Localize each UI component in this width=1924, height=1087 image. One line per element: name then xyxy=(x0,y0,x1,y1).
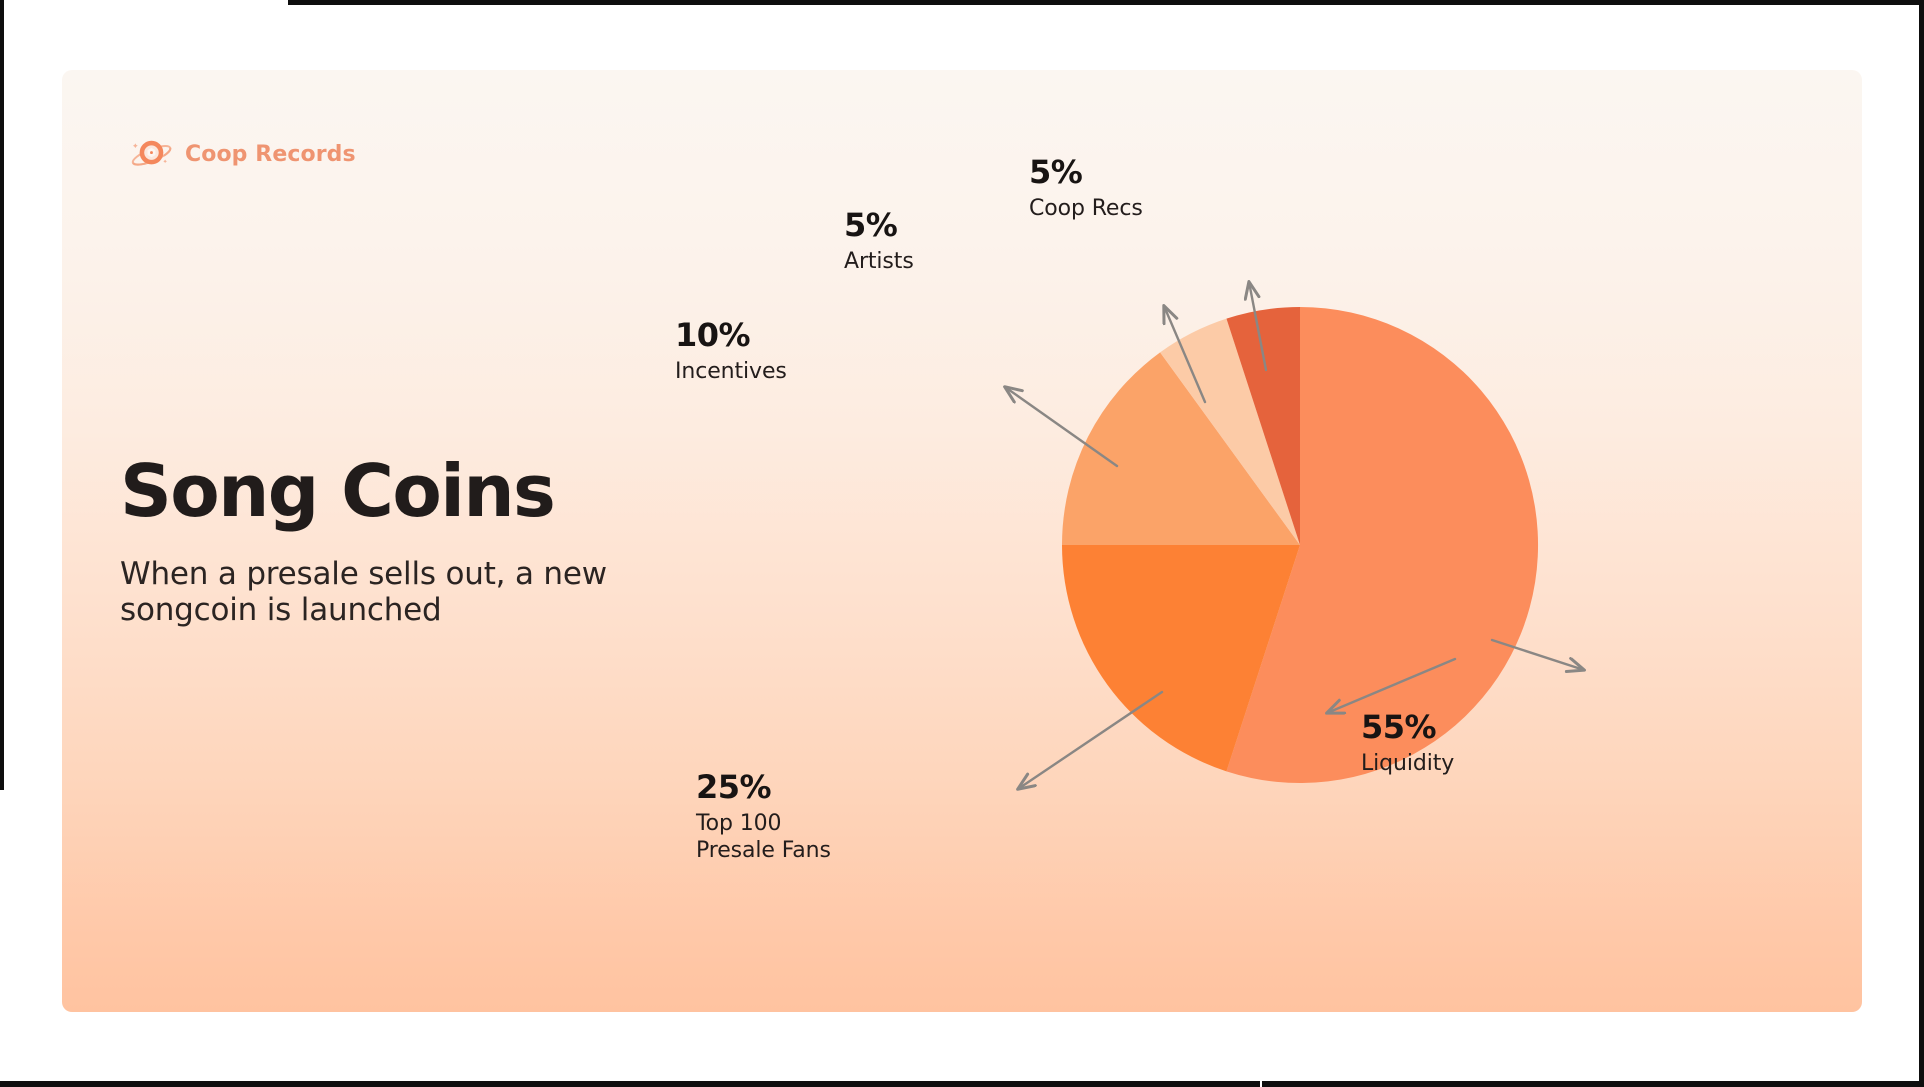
callout-label: Artists xyxy=(844,248,914,276)
callout-liquidity: 55% Liquidity xyxy=(1361,710,1454,777)
frame-edge-top xyxy=(288,0,1924,5)
leader-arrow-top-fans xyxy=(1018,692,1162,789)
callout-percent: 55% xyxy=(1361,710,1454,745)
callout-label: Incentives xyxy=(675,358,787,386)
callout-percent: 25% xyxy=(696,770,831,805)
callout-percent: 5% xyxy=(844,208,914,243)
pie-chart: 5% Coop Recs 5% Artists 10% Incentives 2… xyxy=(62,70,1862,1012)
frame-edge-bottom xyxy=(0,1081,1260,1087)
frame-edge-left xyxy=(0,0,4,790)
callout-label: Coop Recs xyxy=(1029,195,1143,223)
callout-artists: 5% Artists xyxy=(844,208,914,275)
callout-top-100-presale-fans: 25% Top 100 Presale Fans xyxy=(696,770,831,865)
callout-percent: 5% xyxy=(1029,155,1143,190)
slide-card: Coop Records Song Coins When a presale s… xyxy=(62,70,1862,1012)
frame-edge-right xyxy=(1919,5,1924,1087)
pie-chart-svg xyxy=(762,170,1762,900)
callout-label: Liquidity xyxy=(1361,750,1454,778)
callout-incentives: 10% Incentives xyxy=(675,318,787,385)
frame-edge-bottom-right xyxy=(1262,1081,1924,1087)
callout-coop-recs: 5% Coop Recs xyxy=(1029,155,1143,222)
callout-label: Top 100 Presale Fans xyxy=(696,810,831,865)
callout-percent: 10% xyxy=(675,318,787,353)
slide-page: Coop Records Song Coins When a presale s… xyxy=(0,0,1924,1087)
